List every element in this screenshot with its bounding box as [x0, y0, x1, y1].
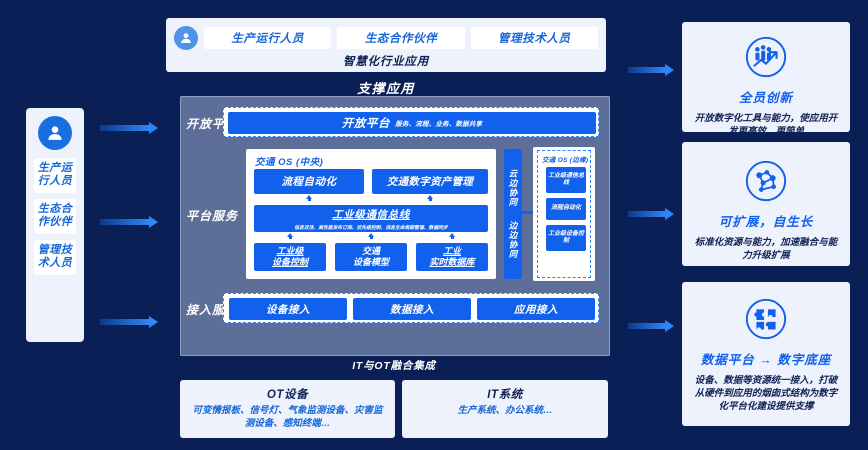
arrow-left-to-platform-1: [100, 122, 158, 134]
device-model-line2: 设备模型: [353, 257, 389, 268]
benefit-card-data-platform: 数据平台 → 数字底座 设备、数据等资源统一接入，打破从硬件到应用的烟囱式结构为…: [682, 282, 850, 426]
persona-chip-production[interactable]: 生产运行人员: [34, 158, 76, 193]
top-application-bar: 生产运行人员 生态合作伙伴 管理技术人员 智慧化行业应用: [166, 18, 606, 72]
benefit-card-desc: 标准化资源与能力，加速融合与能力升级扩展: [682, 230, 850, 262]
it-system-title: IT系统: [402, 386, 608, 402]
persona-chip-management[interactable]: 管理技术人员: [34, 240, 76, 275]
realtime-db-line2: 实时数据库: [429, 257, 474, 268]
it-ot-integration-caption: IT与OT融合集成: [180, 358, 608, 373]
benefit-card-title: 可扩展，自生长: [719, 211, 814, 230]
digital-asset-management-button[interactable]: 交通数字资产管理: [372, 169, 488, 194]
benefit-card-desc: 开放数字化工具与能力，使应用开发更高效、更简单: [682, 106, 850, 138]
app-chip-ecosystem[interactable]: 生态合作伙伴: [337, 27, 464, 49]
it-system-desc: 生产系统、办公系统…: [402, 402, 608, 417]
diagram-canvas: 生产运行人员 生态合作伙伴 管理技术人员 生产运行人员 生态合作伙伴 管理技术人…: [0, 0, 868, 450]
device-access-button[interactable]: 设备接入: [229, 298, 347, 320]
benefit-card-title: 全员创新: [739, 87, 793, 106]
os-central-card: 交通 OS (中央) 流程自动化 交通数字资产管理 工业级通信总线 信息双活、高…: [246, 149, 496, 279]
realtime-db-line1: 工业: [443, 246, 461, 257]
ot-equipment-title: OT设备: [180, 386, 395, 402]
persona-chip-ecosystem[interactable]: 生态合作伙伴: [34, 199, 76, 234]
open-platform-title: 开放平台: [342, 115, 390, 131]
application-access-button[interactable]: 应用接入: [477, 298, 595, 320]
arrow-left-to-platform-2: [100, 216, 158, 228]
arrow-bus-to-device-model: [368, 233, 375, 242]
platform-panel: 开放平台 平台服务 接入服务 开放平台 服务、流程、业务、数据共享 交通 OS …: [180, 96, 610, 356]
cloud-edge-text-1: 云边协同: [508, 169, 518, 207]
ot-equipment-box: OT设备 可变情报板、信号灯、气象监测设备、灾害监测设备、感知终端…: [180, 380, 395, 438]
industrial-device-control-button[interactable]: 工业级 设备控制: [254, 243, 326, 271]
edge-communication-bus-button[interactable]: 工业级通信总线: [546, 167, 586, 193]
device-control-line2: 设备控制: [272, 257, 308, 268]
benefit-card-scalability: 可扩展，自生长 标准化资源与能力，加速融合与能力升级扩展: [682, 142, 850, 266]
it-system-box: IT系统 生产系统、办公系统…: [402, 380, 608, 438]
app-chip-management[interactable]: 管理技术人员: [471, 27, 598, 49]
puzzle-pieces-icon: [743, 296, 789, 342]
traffic-device-model-button[interactable]: 交通 设备模型: [335, 243, 407, 271]
bus-title: 工业级通信总线: [332, 207, 410, 222]
os-edge-dashed-container: 交通 OS (边缘) 工业级通信总线 流程自动化 工业级设备控制: [537, 150, 591, 278]
os-edge-card: 交通 OS (边缘) 工业级通信总线 流程自动化 工业级设备控制: [533, 147, 595, 281]
people-growth-chart-icon: [743, 34, 789, 80]
open-platform-sub: 服务、流程、业务、数据共享: [395, 118, 482, 128]
arrow-bus-to-asset: [427, 195, 434, 204]
industrial-realtime-database-button[interactable]: 工业 实时数据库: [416, 243, 488, 271]
open-platform-button[interactable]: 开放平台 服务、流程、业务、数据共享: [228, 112, 596, 134]
os-central-title: 交通 OS (中央): [255, 154, 323, 168]
arrow-platform-to-card-1: [628, 64, 674, 76]
device-model-line1: 交通: [362, 246, 380, 257]
top-app-row: 生产运行人员 生态合作伙伴 管理技术人员: [174, 26, 598, 50]
arrow-bus-to-realtime-db: [449, 233, 456, 242]
os-edge-title: 交通 OS (边缘): [542, 154, 588, 164]
edge-flow-automation-button[interactable]: 流程自动化: [546, 198, 586, 220]
molecule-network-icon: [743, 158, 789, 204]
smart-industry-subtitle: 智慧化行业应用: [166, 53, 606, 69]
benefit-card-innovation: 全员创新 开放数字化工具与能力，使应用开发更高效、更简单: [682, 22, 850, 132]
access-services-container: 设备接入 数据接入 应用接入: [223, 293, 599, 323]
arrow-platform-to-card-2: [628, 208, 674, 220]
flow-automation-button[interactable]: 流程自动化: [254, 169, 364, 194]
cloud-edge-collaboration-label: 云边协同 边边协同: [504, 149, 522, 279]
arrow-bus-to-flow: [306, 195, 313, 204]
bus-subtitle: 信息双活、高性能发布订阅、优先级控制、消息生命周期管理、数据同步: [294, 224, 448, 231]
industrial-communication-bus-button[interactable]: 工业级通信总线 信息双活、高性能发布订阅、优先级控制、消息生命周期管理、数据同步: [254, 205, 488, 232]
ot-equipment-desc: 可变情报板、信号灯、气象监测设备、灾害监测设备、感知终端…: [180, 402, 395, 430]
arrow-bus-to-device-control: [287, 233, 294, 242]
app-chip-production[interactable]: 生产运行人员: [204, 27, 331, 49]
support-application-title: 支撑应用: [166, 78, 606, 97]
benefit-card-desc: 设备、数据等资源统一接入，打破从硬件到应用的烟囱式结构为数字化平台化建设提供支撑: [682, 368, 850, 413]
user-avatar-icon: [174, 26, 198, 50]
arrow-left-to-platform-3: [100, 316, 158, 328]
benefit-card-title: 数据平台 → 数字底座: [701, 349, 831, 368]
user-avatar-icon: [38, 116, 72, 150]
edge-device-control-button[interactable]: 工业级设备控制: [546, 225, 586, 251]
device-control-line1: 工业级: [276, 246, 303, 257]
arrow-platform-to-card-3: [628, 320, 674, 332]
cloud-edge-text-2: 边边协同: [508, 221, 518, 259]
open-platform-container: 开放平台 服务、流程、业务、数据共享: [223, 107, 599, 137]
left-persona-sidebar: 生产运行人员 生态合作伙伴 管理技术人员: [26, 108, 84, 342]
data-access-button[interactable]: 数据接入: [353, 298, 471, 320]
row-label-platform-service: 平台服务: [186, 207, 238, 224]
